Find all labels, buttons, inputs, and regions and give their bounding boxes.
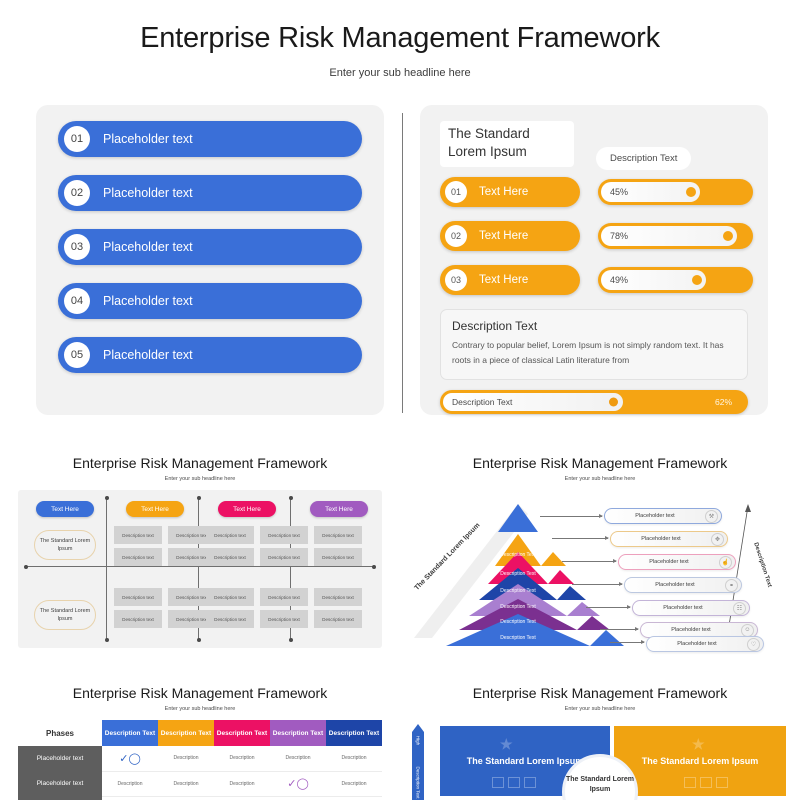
pyramid-layer-label: Description Text [486, 571, 550, 577]
row-label: Text Here [479, 230, 528, 242]
list-item[interactable]: 05 Placeholder text [58, 337, 362, 373]
item-label: Placeholder text [103, 132, 193, 146]
progress-row: 02 Text Here 78% [440, 221, 748, 251]
table-cell[interactable]: Description [326, 771, 382, 796]
pyramid-connector [552, 538, 608, 539]
slide-subtitle: Enter your sub headline here [18, 476, 382, 482]
row-label: Text Here [479, 274, 528, 286]
item-number: 02 [64, 180, 90, 206]
pyramid-layer-label: Description Text [446, 635, 590, 641]
matrix-note[interactable]: Description text [314, 526, 362, 544]
pyramid-card[interactable]: Placeholder text ✥ [610, 531, 728, 547]
timeline-dot [289, 638, 293, 642]
description-chip: Description Text [596, 147, 691, 170]
matrix-pill[interactable]: Text Here [126, 501, 184, 517]
link-icon: ⚭ [725, 579, 738, 592]
timeline-vertical-1 [106, 498, 107, 640]
table-row-label: Placeholder text [18, 771, 102, 796]
pyramid-connector [610, 642, 644, 643]
page-subtitle: Enter your sub headline here [0, 67, 800, 79]
row-pill[interactable]: 03 Text Here [440, 265, 580, 295]
item-number: 04 [64, 288, 90, 314]
table-corner-label: Phases [18, 720, 102, 746]
table-row-label: Placeholder text [18, 796, 102, 800]
timeline-dot [105, 496, 109, 500]
table-cell[interactable]: Description [102, 796, 158, 800]
hand-icon: ☝ [719, 556, 732, 569]
progress-value: 78% [610, 231, 628, 241]
pyramid-card-label: Placeholder text [611, 536, 711, 542]
block-left-label: The Standard Lorem Ipsum [467, 756, 584, 766]
matrix-pill[interactable]: Text Here [218, 501, 276, 517]
phases-table: Phases Description Text Description Text… [18, 720, 382, 800]
matrix-note[interactable]: Description text [260, 610, 308, 628]
list-item[interactable]: 01 Placeholder text [58, 121, 362, 157]
table-cell[interactable]: Description [158, 746, 214, 771]
page-title: Enterprise Risk Management Framework [0, 0, 800, 55]
row-label: Text Here [479, 186, 528, 198]
pyramid-card-label: Placeholder text [605, 513, 705, 519]
progress-knob[interactable] [723, 231, 733, 241]
pyramid-connector [562, 561, 616, 562]
list-item[interactable]: 02 Placeholder text [58, 175, 362, 211]
list-item[interactable]: 04 Placeholder text [58, 283, 362, 319]
table-cell[interactable]: ✓◯ [326, 796, 382, 800]
progress-panel-header: The Standard Lorem Ipsum Description Tex… [440, 121, 748, 177]
item-label: Placeholder text [103, 348, 193, 362]
slide-title: Enterprise Risk Management Framework [410, 455, 790, 471]
item-label: Placeholder text [103, 240, 193, 254]
slide-subtitle: Enter your sub headline here [410, 476, 790, 482]
pyramid-card-label: Placeholder text [625, 582, 725, 588]
pyramid-canvas: The Standard Lorem Ipsum Description Tex… [410, 490, 790, 648]
pyramid-card-label: Placeholder text [647, 641, 747, 647]
matrix-note[interactable]: Description text [114, 610, 162, 628]
matrix-note[interactable]: Description text [260, 588, 308, 606]
table-cell[interactable]: ✓◯ [270, 771, 326, 796]
pyramid-layer-label: Description Text [478, 588, 558, 594]
table-column-header[interactable]: Description Text [158, 720, 214, 746]
table-cell[interactable]: Description [214, 796, 270, 800]
matrix-note[interactable]: Description text [114, 588, 162, 606]
pyramid-card-label: Placeholder text [641, 627, 741, 633]
matrix-oval-label: The Standard Lorem Ipsum [34, 530, 96, 560]
matrix-oval-label: The Standard Lorem Ipsum [34, 600, 96, 630]
slide-two-blocks[interactable]: Enterprise Risk Management Framework Ent… [410, 685, 790, 800]
row-pill[interactable]: 01 Text Here [440, 177, 580, 207]
move-icon: ✥ [711, 533, 724, 546]
summary-progress-label: Description Text [452, 397, 512, 407]
pyramid-card[interactable]: Placeholder text ☝ [618, 554, 736, 570]
summary-progress-bar[interactable]: Description Text 62% [440, 390, 748, 414]
progress-row: 03 Text Here 49% [440, 265, 748, 295]
row-pill[interactable]: 02 Text Here [440, 221, 580, 251]
timeline-dot [197, 496, 201, 500]
row-number: 03 [445, 269, 467, 291]
description-card-body: Contrary to popular belief, Lorem Ipsum … [452, 338, 736, 368]
hero-row: 01 Placeholder text 02 Placeholder text … [0, 105, 800, 425]
timeline-dot [372, 565, 376, 569]
timeline-dot [105, 638, 109, 642]
table-column-header[interactable]: Description Text [326, 720, 382, 746]
matrix-note[interactable]: Description text [314, 588, 362, 606]
description-card: Description Text Contrary to popular bel… [440, 309, 748, 380]
table-column-header[interactable]: Description Text [102, 720, 158, 746]
progress-bar[interactable]: 78% [598, 223, 753, 249]
star-icon: ★ [692, 736, 705, 753]
star-icon: ★ [500, 736, 513, 753]
table-cell[interactable]: Description [270, 746, 326, 771]
timeline-dot [289, 496, 293, 500]
table-cell[interactable]: Description [158, 771, 214, 796]
check-icon: ✓◯ [119, 753, 141, 765]
slide-deck-page: Enterprise Risk Management Framework Ent… [0, 0, 800, 800]
table-column-header[interactable]: Description Text [214, 720, 270, 746]
shield-icon: ♡ [747, 638, 760, 651]
item-number: 05 [64, 342, 90, 368]
item-label: Placeholder text [103, 186, 193, 200]
matrix-note[interactable]: Description text [114, 526, 162, 544]
table-cell[interactable]: Description [214, 746, 270, 771]
progress-knob[interactable] [686, 187, 696, 197]
pyramid-connector [540, 516, 602, 517]
pyramid-card[interactable]: Placeholder text ⚒ [604, 508, 722, 524]
summary-progress-value: 62% [715, 397, 732, 407]
progress-fill: 45% [601, 182, 700, 202]
table-row: Placeholder text Description Description… [18, 771, 382, 796]
vertical-axis-arrow: High Description Text [412, 724, 424, 800]
table-cell[interactable]: Description [270, 796, 326, 800]
network-icon: ☷ [733, 602, 746, 615]
row-number: 01 [445, 181, 467, 203]
matrix-note[interactable]: Description text [206, 588, 254, 606]
item-number: 01 [64, 126, 90, 152]
table-cell[interactable]: Description [102, 771, 158, 796]
slide-matrix[interactable]: Enterprise Risk Management Framework Ent… [18, 455, 382, 648]
table-row: Placeholder text Description ✓◯ Descript… [18, 796, 382, 800]
table-header-row: Phases Description Text Description Text… [18, 720, 382, 746]
slide-subtitle: Enter your sub headline here [18, 706, 382, 712]
table-cell[interactable]: ✓◯ [158, 796, 214, 800]
pyramid-card[interactable]: Placeholder text ☷ [632, 600, 750, 616]
item-label: Placeholder text [103, 294, 193, 308]
slide-subtitle: Enter your sub headline here [410, 706, 790, 712]
check-icon: ✓◯ [287, 778, 309, 790]
matrix-pill[interactable]: Text Here [36, 501, 94, 517]
pyramid-layer-label: Description Text [458, 619, 578, 625]
progress-bar[interactable]: 49% [598, 267, 753, 293]
table-column-header[interactable]: Description Text [270, 720, 326, 746]
pyramid-card-label: Placeholder text [633, 605, 733, 611]
pyramid-card[interactable]: Placeholder text ♡ [646, 636, 764, 652]
item-number: 03 [64, 234, 90, 260]
timeline-dot [197, 638, 201, 642]
axis-label-description: Description Text [416, 767, 421, 799]
table-row-label: Placeholder text [18, 746, 102, 771]
matrix-note[interactable]: Description text [206, 526, 254, 544]
slide-pyramid[interactable]: Enterprise Risk Management Framework Ent… [410, 455, 790, 648]
slide-title: Enterprise Risk Management Framework [18, 685, 382, 701]
matrix-note[interactable]: Description text [260, 526, 308, 544]
tools-icon: ⚒ [705, 510, 718, 523]
timeline-dot [24, 565, 28, 569]
progress-value: 45% [610, 187, 628, 197]
list-item[interactable]: 03 Placeholder text [58, 229, 362, 265]
matrix-canvas: Text Here Text Here Text Here Text Here … [18, 490, 382, 648]
pyramid-connector [572, 584, 622, 585]
panel-title: The Standard Lorem Ipsum [440, 121, 574, 167]
pyramid-layer-label: Description Text [492, 552, 544, 558]
box-icons [684, 777, 728, 788]
progress-panel: The Standard Lorem Ipsum Description Tex… [420, 105, 768, 415]
user-icon: ☺ [741, 624, 754, 637]
matrix-note[interactable]: Description text [206, 610, 254, 628]
matrix-note[interactable]: Description text [314, 610, 362, 628]
table-cell[interactable]: ✓◯ [102, 746, 158, 771]
matrix-note[interactable]: Description text [206, 548, 254, 566]
table-cell[interactable]: Description [326, 746, 382, 771]
pyramid-connector [586, 607, 630, 608]
description-card-title: Description Text [452, 319, 736, 333]
pyramid-connector [600, 629, 638, 630]
axis-label-high: High [416, 736, 421, 745]
progress-fill: 49% [601, 270, 706, 290]
slide-title: Enterprise Risk Management Framework [18, 455, 382, 471]
two-blocks-canvas: High Description Text ★ The Standard Lor… [410, 720, 790, 800]
table-row: Placeholder text ✓◯ Description Descript… [18, 746, 382, 771]
slide-table[interactable]: Enterprise Risk Management Framework Ent… [18, 685, 382, 800]
block-right-label: The Standard Lorem Ipsum [642, 756, 759, 766]
table-cell[interactable]: Description [214, 771, 270, 796]
progress-row: 01 Text Here 45% [440, 177, 748, 207]
pyramid-card[interactable]: Placeholder text ⚭ [624, 577, 742, 593]
row-number: 02 [445, 225, 467, 247]
progress-bar[interactable]: 45% [598, 179, 753, 205]
timeline-horizontal [26, 566, 374, 567]
progress-knob[interactable] [692, 275, 702, 285]
pyramid-layer-label: Description Text [468, 604, 568, 610]
progress-fill: 78% [601, 226, 737, 246]
block-right[interactable]: ★ The Standard Lorem Ipsum [614, 726, 786, 796]
summary-progress-knob[interactable] [609, 397, 618, 406]
progress-value: 49% [610, 275, 628, 285]
numbered-list-panel: 01 Placeholder text 02 Placeholder text … [36, 105, 384, 415]
summary-progress-fill: Description Text [443, 393, 623, 411]
box-icons [492, 777, 536, 788]
matrix-note[interactable]: Description text [260, 548, 308, 566]
matrix-note[interactable]: Description text [314, 548, 362, 566]
matrix-note[interactable]: Description text [114, 548, 162, 566]
matrix-pill[interactable]: Text Here [310, 501, 368, 517]
hero-divider [402, 113, 403, 413]
slide-title: Enterprise Risk Management Framework [410, 685, 790, 701]
pyramid-card-label: Placeholder text [619, 559, 719, 565]
